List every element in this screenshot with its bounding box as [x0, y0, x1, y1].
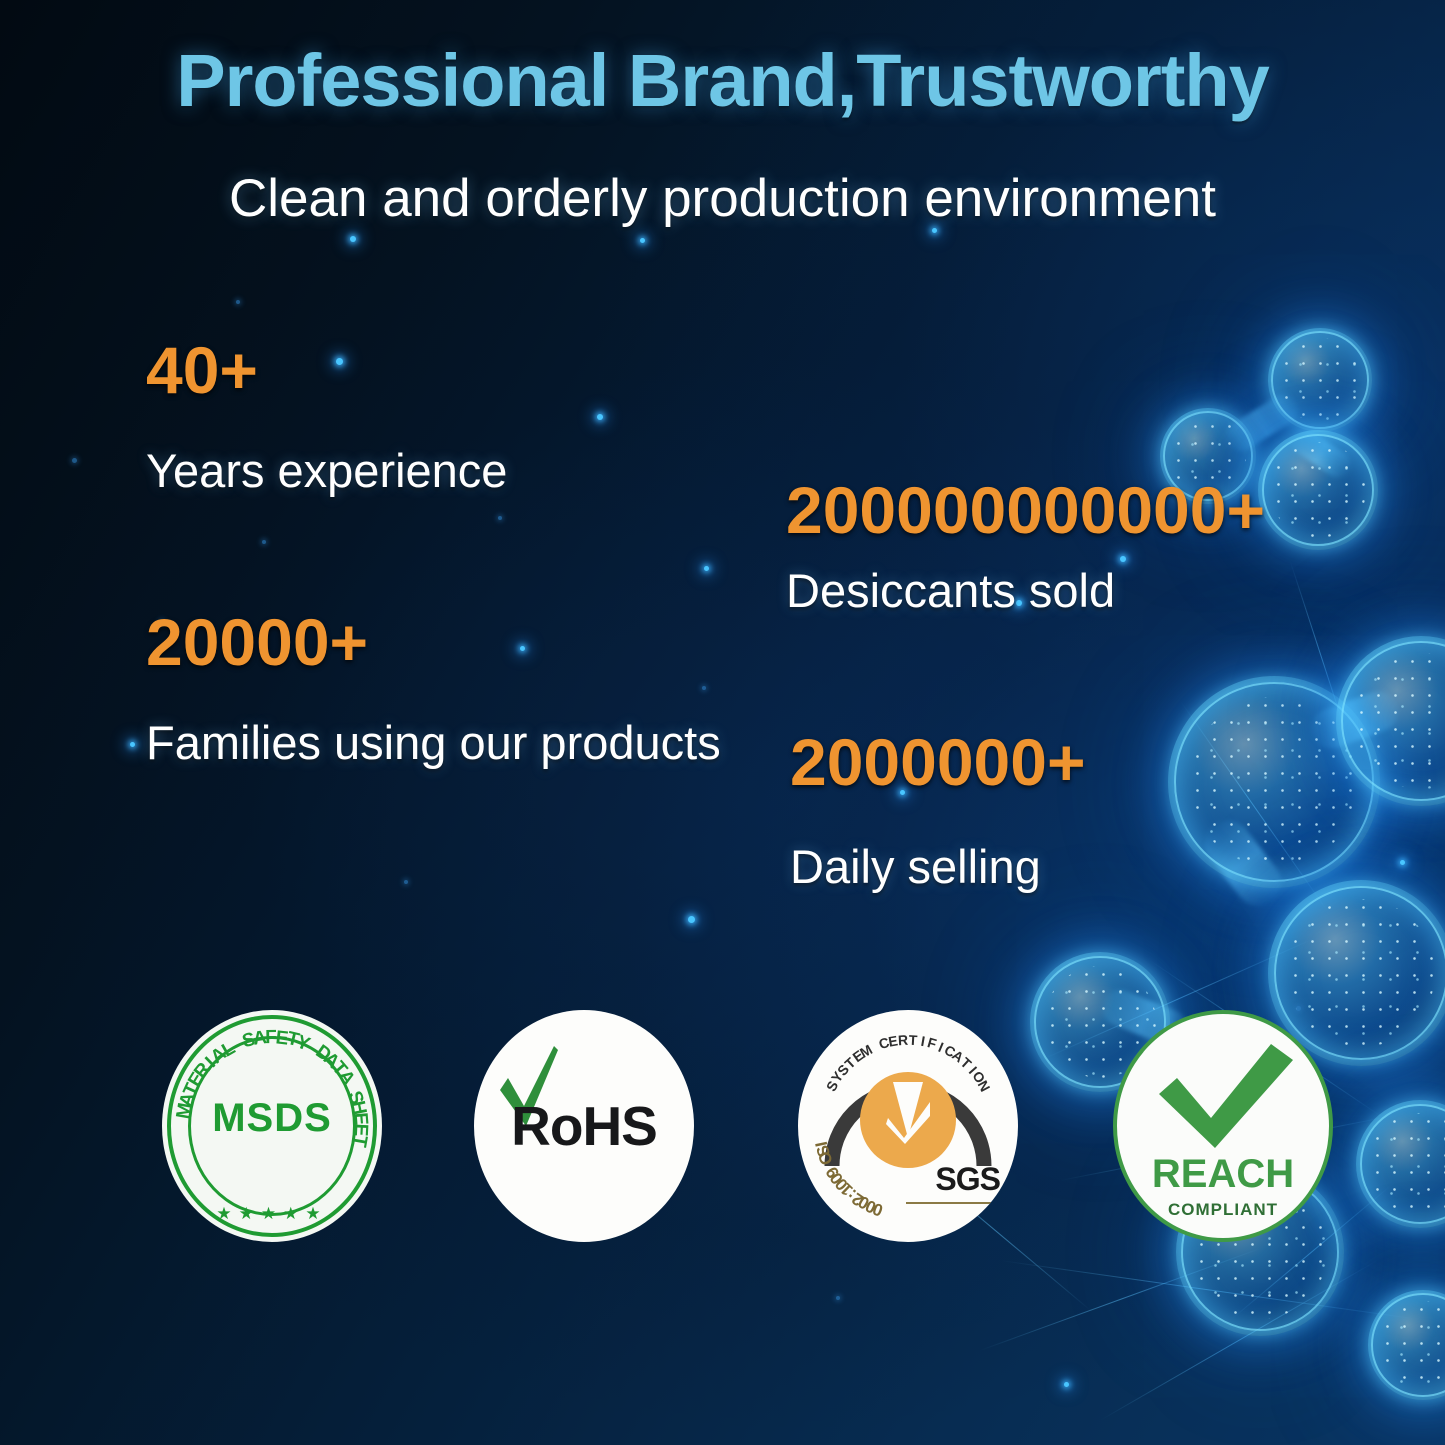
glow-particle — [262, 540, 266, 544]
reach-disc-icon: REACH COMPLIANT — [1113, 1010, 1333, 1242]
molecule-bond — [1306, 686, 1404, 754]
glow-particle — [704, 566, 709, 571]
stat-desiccants-sold: 200000000000+ Desiccants sold — [786, 476, 1265, 618]
glow-particle — [836, 1296, 840, 1300]
stat-value: 20000+ — [146, 608, 721, 677]
molecule-bond — [1195, 811, 1290, 915]
molecule-sphere — [1168, 676, 1380, 888]
glow-particle — [597, 414, 603, 420]
page-subtitle: Clean and orderly production environment — [0, 168, 1445, 229]
network-line — [1000, 1260, 1416, 1319]
badge-sgs: SYSTEM CERTIFICATION ISO 9001:2000 SGS — [798, 1010, 1018, 1242]
glow-particle — [236, 300, 240, 304]
page-title: Professional Brand,Trustworthy — [0, 38, 1445, 123]
molecule-sphere — [1268, 328, 1372, 432]
sgs-check-icon — [884, 1100, 934, 1144]
molecule-bond — [1286, 424, 1355, 482]
badge-rohs: RoHS — [474, 1010, 694, 1242]
msds-stars: ★★★★★ — [162, 1204, 382, 1224]
stat-families-using-products: 20000+ Families using our products — [146, 608, 721, 770]
stat-value: 2000000+ — [790, 728, 1086, 797]
sgs-label: SGS — [935, 1161, 1000, 1198]
stat-label: Families using our products — [146, 715, 721, 770]
certification-badges: MATERIAL SAFETY DATA SHEET MSDS ★★★★★ Ro… — [0, 1010, 1445, 1260]
sgs-underline — [906, 1202, 1002, 1204]
sgs-disc-icon: SYSTEM CERTIFICATION ISO 9001:2000 SGS — [798, 1010, 1018, 1242]
molecule-bond — [1220, 389, 1304, 457]
badge-msds: MATERIAL SAFETY DATA SHEET MSDS ★★★★★ — [162, 1010, 382, 1242]
molecule-sphere — [1258, 430, 1378, 550]
stat-label: Years experience — [146, 443, 507, 498]
promo-poster: Professional Brand,Trustworthy Clean and… — [0, 0, 1445, 1445]
rohs-label: RoHS — [511, 1095, 657, 1157]
reach-sublabel: COMPLIANT — [1117, 1200, 1329, 1220]
glow-particle — [688, 916, 695, 923]
badge-reach: REACH COMPLIANT — [1113, 1010, 1333, 1242]
stat-years-experience: 40+ Years experience — [146, 336, 507, 498]
glow-particle — [72, 458, 77, 463]
msds-label: MSDS — [162, 1096, 382, 1141]
network-line — [1290, 560, 1353, 751]
molecule-sphere — [1336, 636, 1445, 806]
glow-particle — [640, 238, 645, 243]
molecule-sphere — [1368, 1290, 1445, 1400]
glow-particle — [1400, 860, 1405, 865]
glow-particle — [350, 236, 356, 242]
rohs-disc-icon: RoHS — [474, 1010, 694, 1242]
sgs-orange-circle-icon — [860, 1072, 956, 1168]
reach-label: REACH — [1117, 1152, 1329, 1197]
msds-stamp-icon: MATERIAL SAFETY DATA SHEET MSDS ★★★★★ — [162, 1010, 382, 1242]
glow-particle — [404, 880, 408, 884]
rohs-label-wrap: RoHS — [474, 1094, 694, 1158]
network-line — [1180, 700, 1330, 914]
stat-value: 200000000000+ — [786, 476, 1265, 545]
stat-daily-selling: 2000000+ Daily selling — [790, 728, 1086, 894]
reach-check-icon — [1155, 1042, 1297, 1150]
network-line — [1100, 1260, 1378, 1421]
glow-particle — [130, 742, 135, 747]
network-line — [980, 1247, 1262, 1351]
stat-label: Daily selling — [790, 839, 1086, 894]
stat-label: Desiccants sold — [786, 563, 1265, 618]
glow-particle — [498, 516, 502, 520]
stat-value: 40+ — [146, 336, 507, 405]
glow-particle — [1064, 1382, 1069, 1387]
